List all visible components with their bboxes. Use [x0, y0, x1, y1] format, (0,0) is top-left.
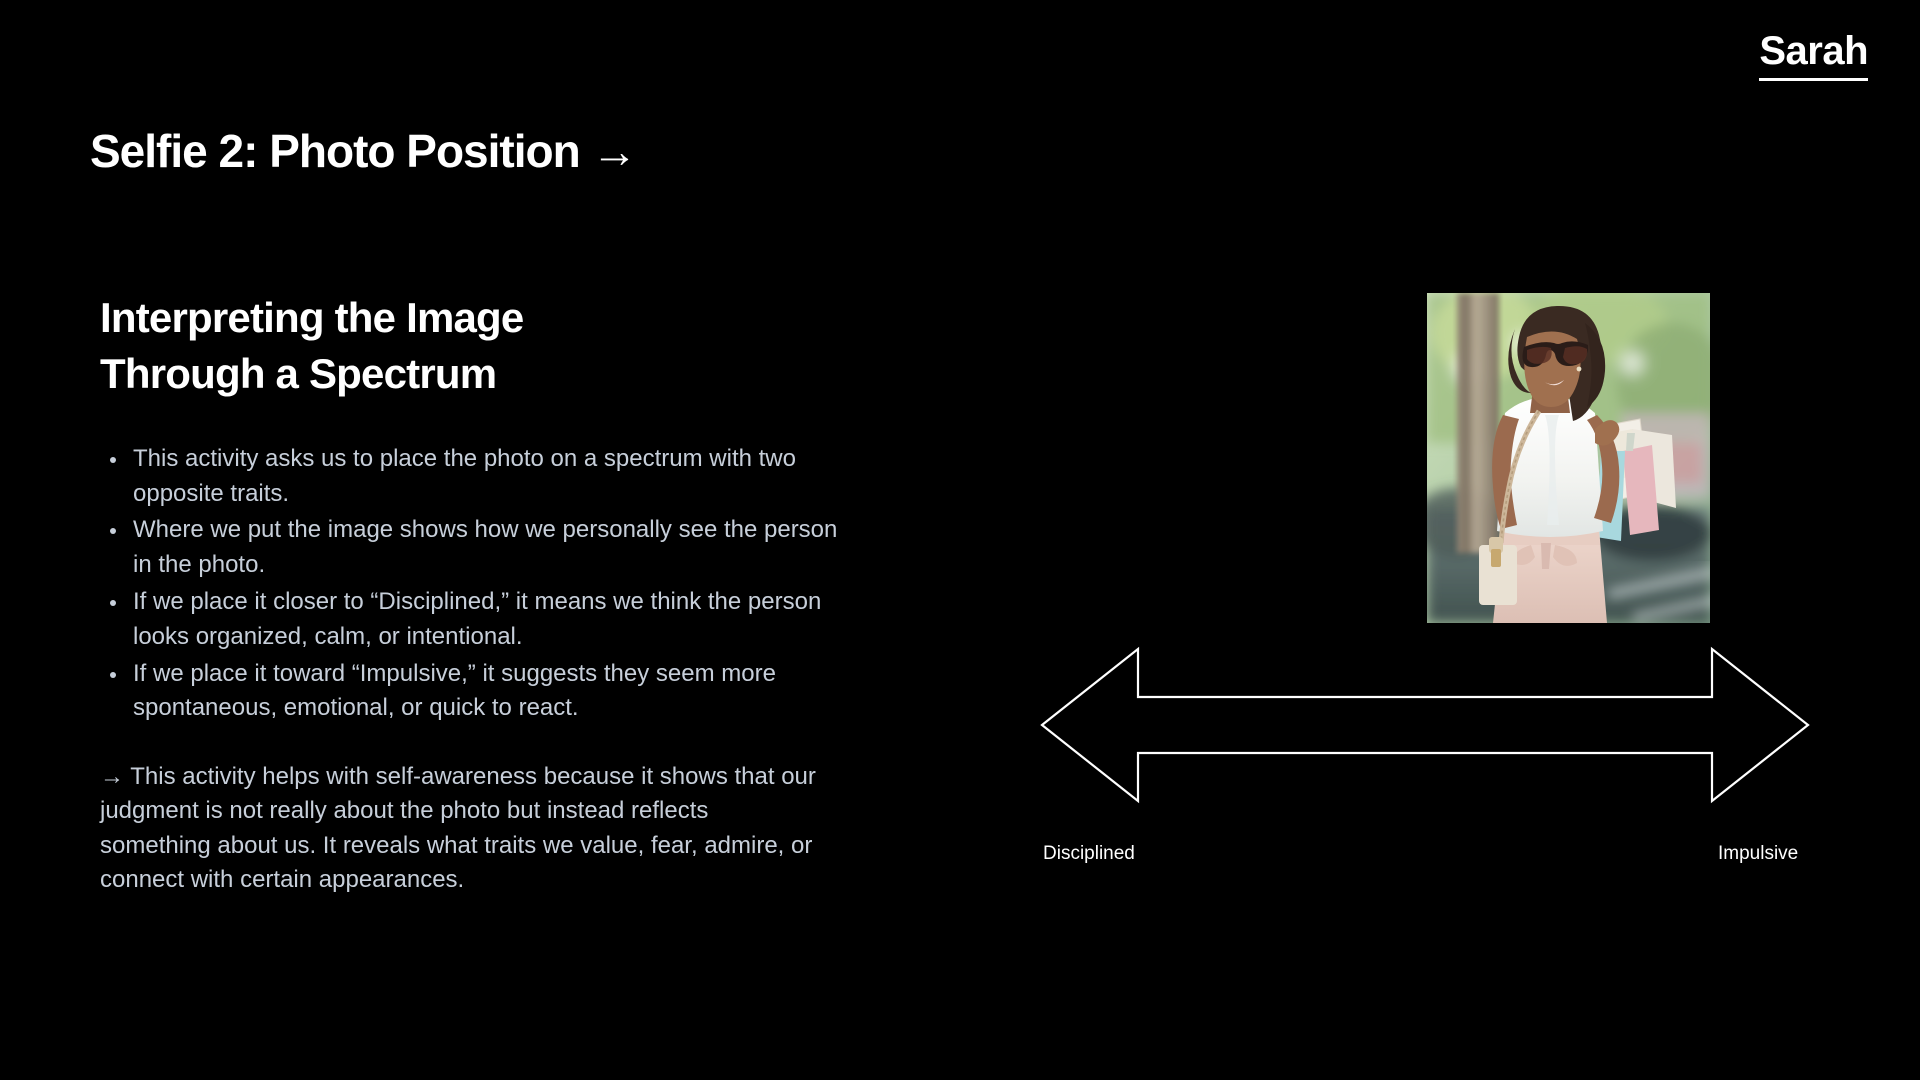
- spectrum-label-left: Disciplined: [1043, 843, 1135, 865]
- spectrum-label-right: Impulsive: [1718, 843, 1798, 865]
- list-item: Where we put the image shows how we pers…: [100, 513, 840, 583]
- page-title-line-1: Interpreting the Image: [100, 290, 840, 346]
- spectrum-arrow: [1040, 640, 1810, 810]
- list-item: If we place it toward “Impulsive,” it su…: [100, 657, 840, 727]
- selfie-photo: [1427, 293, 1710, 623]
- bullet-list: This activity asks us to place the photo…: [100, 442, 840, 726]
- list-item: If we place it closer to “Disciplined,” …: [100, 585, 840, 655]
- page-title: Interpreting the Image Through a Spectru…: [100, 290, 840, 402]
- author-name: Sarah: [1759, 30, 1868, 81]
- content-column: Interpreting the Image Through a Spectru…: [100, 290, 840, 897]
- page-title-line-2: Through a Spectrum: [100, 346, 840, 402]
- slide-canvas: Sarah Selfie 2: Photo Position → Interpr…: [0, 0, 1920, 1080]
- summary-paragraph: → This activity helps with self-awarenes…: [100, 760, 820, 897]
- slide-kicker-title: Selfie 2: Photo Position →: [90, 124, 636, 178]
- list-item: This activity asks us to place the photo…: [100, 442, 840, 512]
